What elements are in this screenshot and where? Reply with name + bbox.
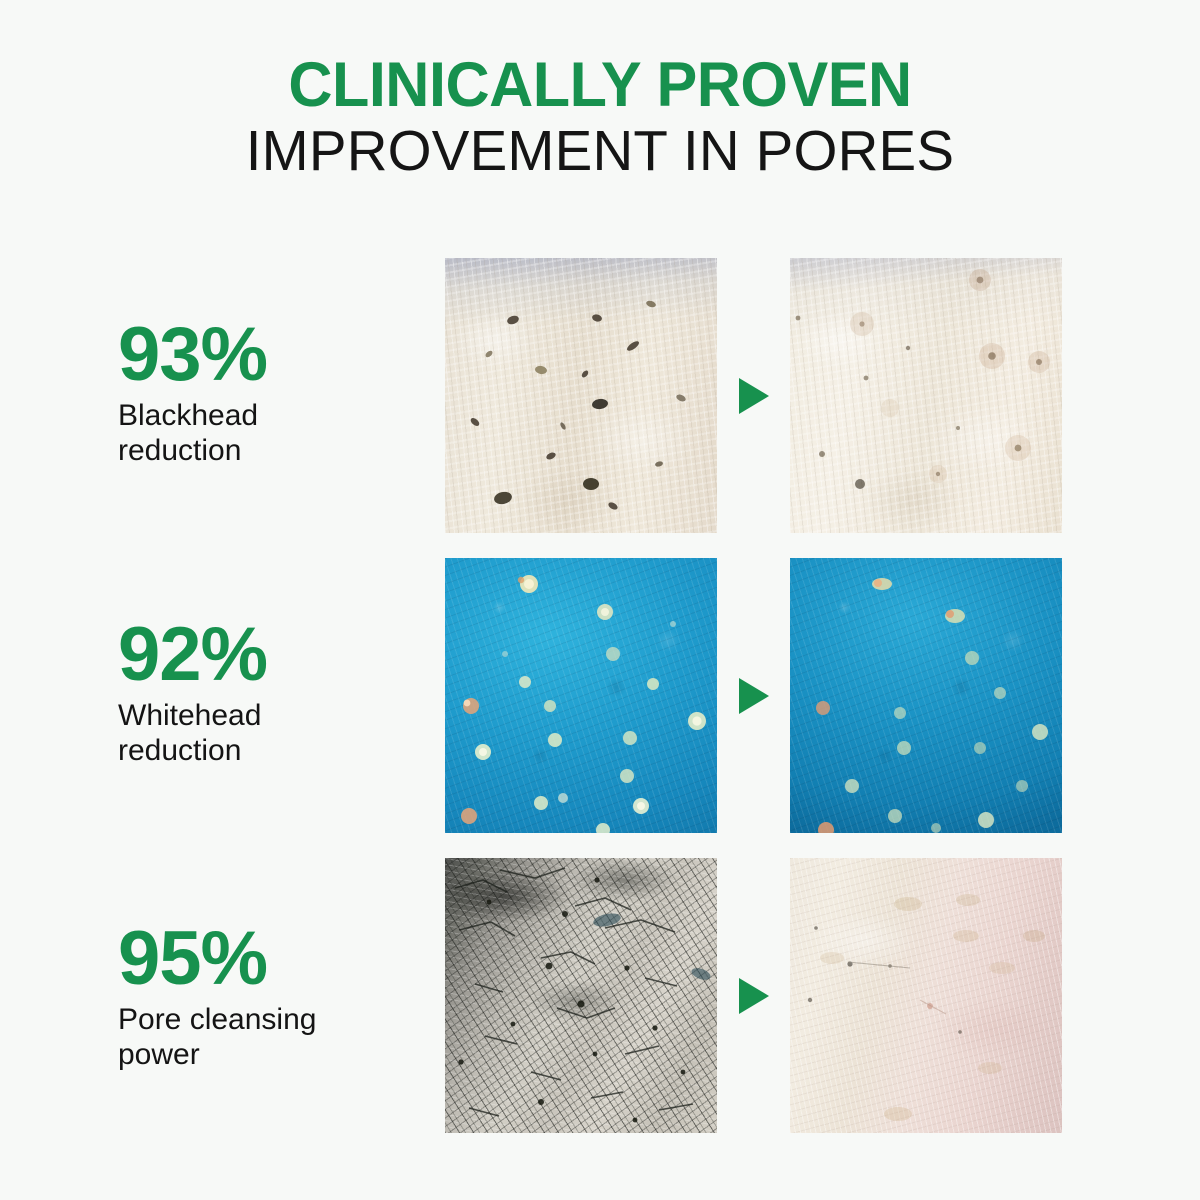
photo-before-blackhead	[445, 258, 717, 533]
photo-before-pore-cleansing	[445, 858, 717, 1133]
before-after-pair-blackhead	[445, 258, 1065, 533]
photo-after-whitehead	[790, 558, 1062, 833]
play-triangle-right-icon	[737, 976, 771, 1016]
stat-rows-container: 93% Blackhead reduction	[0, 258, 1200, 1158]
page-header: CLINICALLY PROVEN IMPROVEMENT IN PORES	[0, 52, 1200, 182]
blackhead-spots-after	[790, 258, 1062, 533]
page-title-secondary: IMPROVEMENT IN PORES	[6, 120, 1194, 182]
stat-row-whitehead: 92% Whitehead reduction	[0, 558, 1200, 833]
stat-percent-whitehead: 92%	[118, 616, 418, 694]
stat-block-whitehead: 92% Whitehead reduction	[118, 616, 418, 768]
stat-block-pore-cleansing: 95% Pore cleansing power	[118, 920, 418, 1072]
stat-percent-pore-cleansing: 95%	[118, 920, 418, 998]
stat-block-blackhead: 93% Blackhead reduction	[118, 316, 418, 468]
photo-after-pore-cleansing	[790, 858, 1062, 1133]
whitehead-spots-before	[445, 558, 717, 833]
arrow-blackhead	[737, 376, 771, 416]
stat-row-blackhead: 93% Blackhead reduction	[0, 258, 1200, 533]
photo-before-whitehead	[445, 558, 717, 833]
stat-percent-blackhead: 93%	[118, 316, 418, 394]
stat-label-whitehead: Whitehead reduction	[118, 698, 366, 768]
blackhead-spots-before	[445, 258, 717, 533]
pore-spots-after	[790, 858, 1062, 1133]
play-triangle-right-icon	[737, 376, 771, 416]
debris-spots-before	[445, 858, 717, 1133]
stat-row-pore-cleansing: 95% Pore cleansing power	[0, 858, 1200, 1133]
before-after-pair-pore-cleansing	[445, 858, 1065, 1133]
page-title-primary: CLINICALLY PROVEN	[18, 52, 1182, 118]
play-triangle-right-icon	[737, 676, 771, 716]
before-after-pair-whitehead	[445, 558, 1065, 833]
whitehead-spots-after	[790, 558, 1062, 833]
arrow-whitehead	[737, 676, 771, 716]
stat-label-blackhead: Blackhead reduction	[118, 398, 366, 468]
photo-after-blackhead	[790, 258, 1062, 533]
stat-label-pore-cleansing: Pore cleansing power	[118, 1002, 366, 1072]
arrow-pore-cleansing	[737, 976, 771, 1016]
